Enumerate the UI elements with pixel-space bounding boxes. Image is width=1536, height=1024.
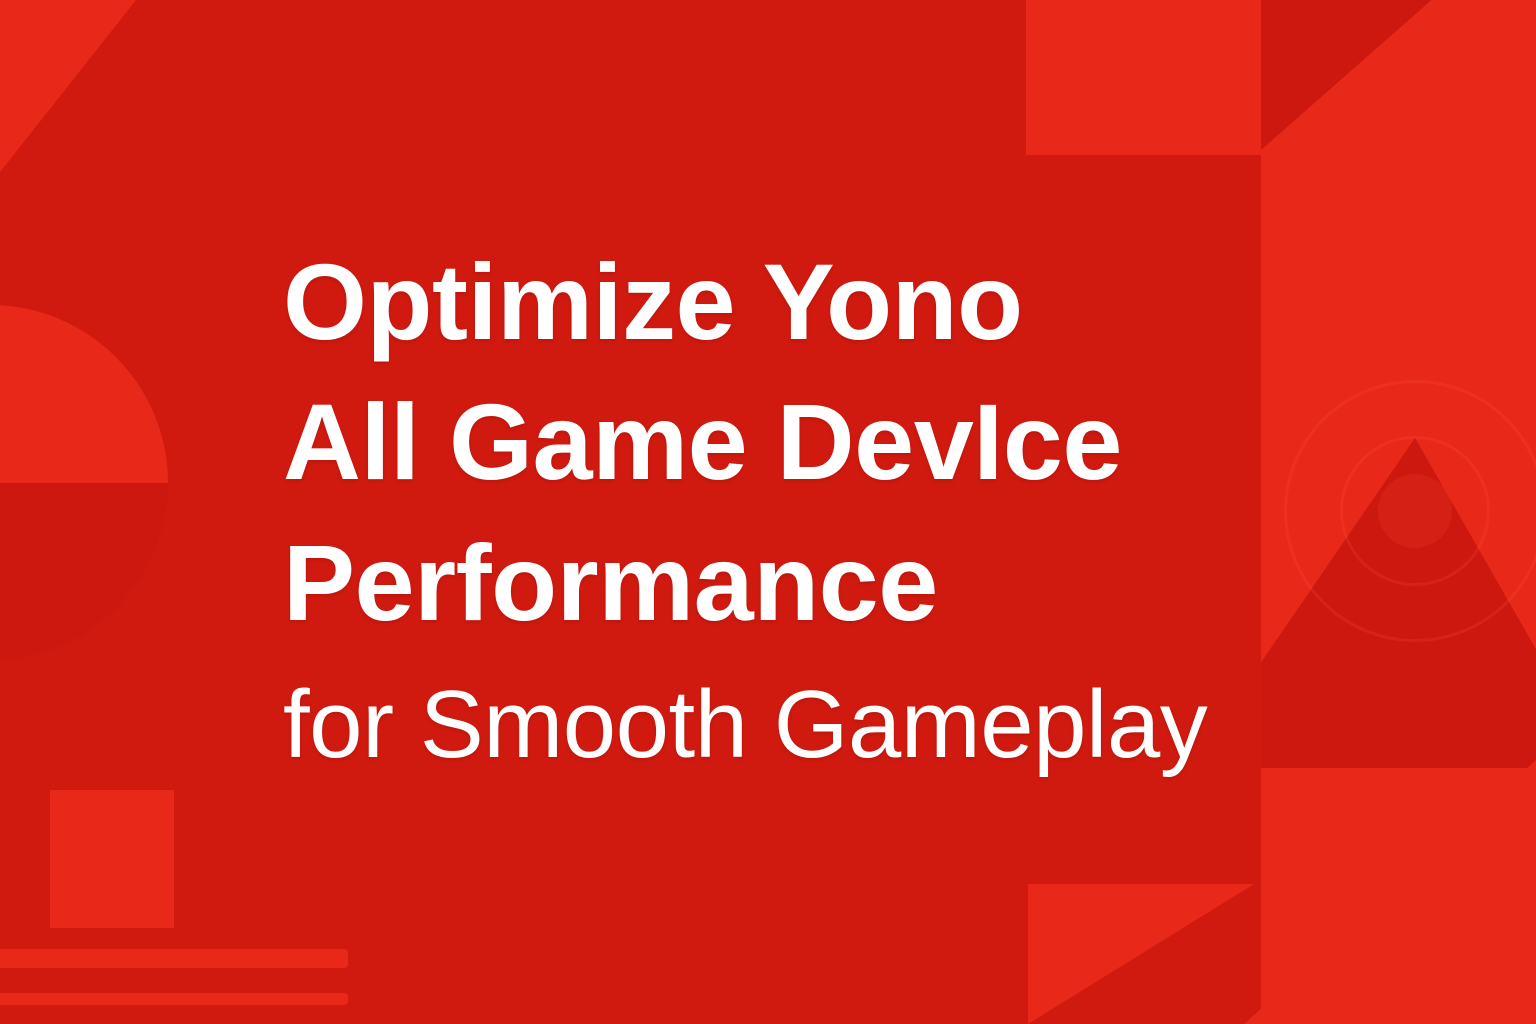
banner-headline: Optimize Yono All Game DevIce Performanc… — [283, 232, 1263, 653]
bottom-right-diagonal-shape — [1180, 760, 1536, 1024]
bottom-left-square-shape — [50, 790, 174, 928]
top-left-wedge-shape — [0, 0, 136, 172]
top-right-square-shape — [1026, 0, 1266, 155]
ring-inner — [1340, 436, 1490, 586]
right-vertical-band-shape — [1261, 0, 1536, 1024]
right-chevron-shape — [1261, 438, 1536, 768]
concentric-rings-shape — [1284, 380, 1536, 642]
bottom-left-bar-upper-shape — [0, 949, 348, 968]
left-circle-lower-shape — [0, 305, 168, 661]
banner-subheadline: for Smooth Gameplay — [283, 675, 1263, 776]
right-diagonal-notch-shape — [1261, 0, 1536, 150]
ring-outer — [1284, 380, 1536, 642]
left-circle-upper-shape — [0, 305, 168, 661]
bottom-right-triangle-shape — [1028, 884, 1254, 1024]
ring-center-dot — [1378, 474, 1452, 548]
promo-banner: Optimize Yono All Game DevIce Performanc… — [0, 0, 1536, 1024]
banner-text-block: Optimize Yono All Game DevIce Performanc… — [283, 232, 1263, 776]
bottom-left-bar-lower-shape — [0, 993, 348, 1005]
